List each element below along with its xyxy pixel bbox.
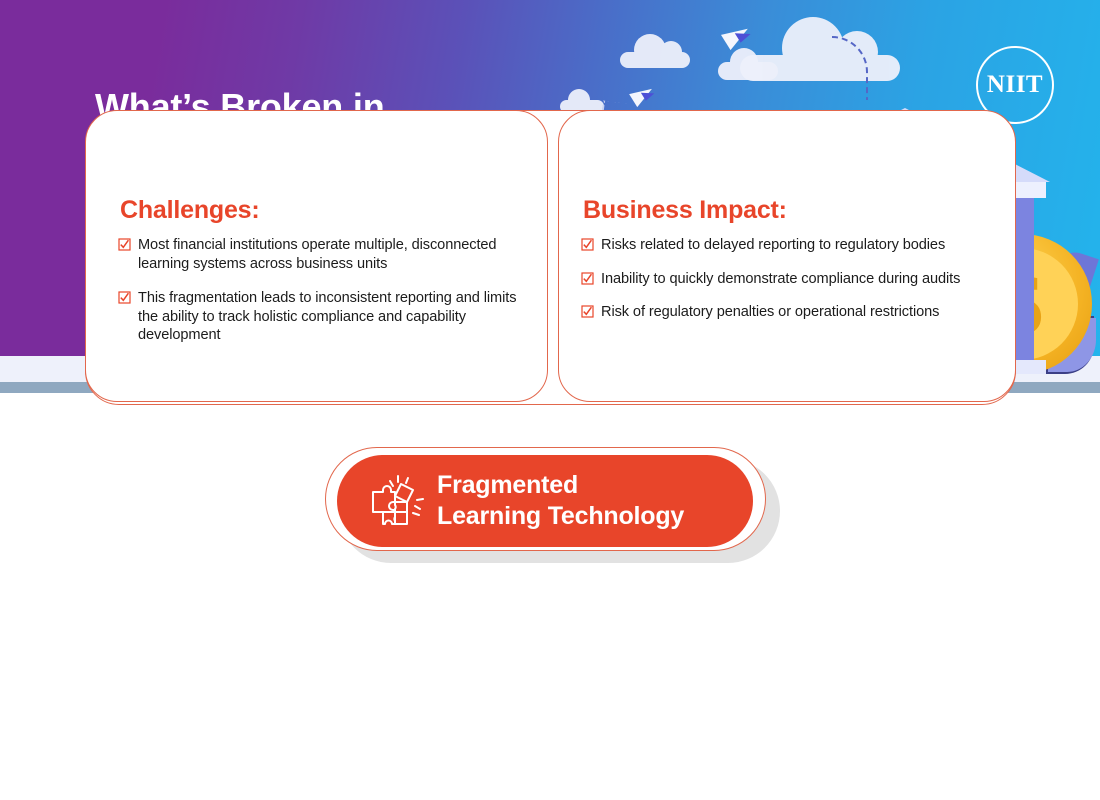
- checkbox-check-icon: [118, 289, 138, 345]
- list-item-text: Risks related to delayed reporting to re…: [601, 236, 945, 255]
- checkbox-check-icon: [581, 236, 601, 255]
- list-item: Risk of regulatory penalties or operatio…: [581, 303, 1001, 322]
- challenges-bullet-list: Most financial institutions operate mult…: [118, 236, 518, 358]
- badge-pill: Fragmented Learning Technology: [337, 455, 753, 547]
- list-item: Most financial institutions operate mult…: [118, 236, 518, 273]
- niit-logo-text: NIIT: [987, 71, 1043, 99]
- puzzle-pieces-icon: [365, 470, 427, 532]
- badge-title-line: Learning Technology: [437, 501, 684, 532]
- challenges-heading: Challenges:: [120, 196, 260, 225]
- business-impact-bullet-list: Risks related to delayed reporting to re…: [581, 236, 1001, 335]
- cloud-icon: [620, 52, 690, 68]
- list-item: This fragmentation leads to inconsistent…: [118, 289, 518, 345]
- list-item-text: Most financial institutions operate mult…: [138, 236, 518, 273]
- list-item: Inability to quickly demonstrate complia…: [581, 270, 1001, 289]
- section-badge: Fragmented Learning Technology: [325, 447, 780, 563]
- business-impact-heading: Business Impact:: [583, 196, 787, 225]
- checkbox-check-icon: [581, 303, 601, 322]
- list-item-text: Risk of regulatory penalties or operatio…: [601, 303, 939, 322]
- infographic-page: $ $: [0, 0, 1100, 800]
- list-item-text: This fragmentation leads to inconsistent…: [138, 289, 518, 345]
- badge-title: Fragmented Learning Technology: [437, 470, 684, 532]
- checkbox-check-icon: [118, 236, 138, 273]
- checkbox-check-icon: [581, 270, 601, 289]
- list-item: Risks related to delayed reporting to re…: [581, 236, 1001, 255]
- badge-title-line: Fragmented: [437, 470, 684, 501]
- cloud-icon: [740, 55, 900, 81]
- list-item-text: Inability to quickly demonstrate complia…: [601, 270, 960, 289]
